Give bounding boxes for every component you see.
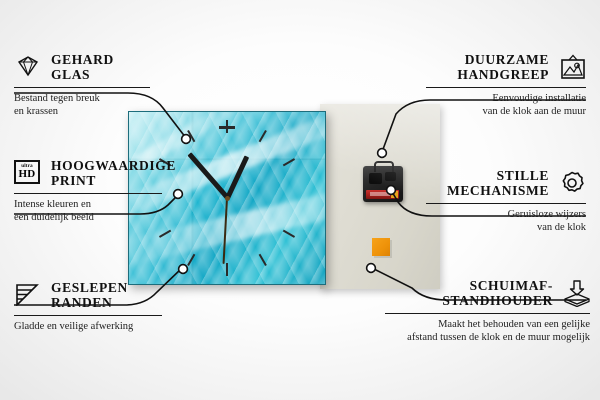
clock-hands-hub (225, 196, 230, 201)
feature-divider (14, 315, 162, 316)
feature-description: Eenvoudige installatie van de klok aan d… (386, 92, 586, 118)
gear-icon (558, 170, 586, 196)
feature-duurzame-handgreep: DUURZAME HANDGREEP Eenvoudige installati… (386, 52, 586, 118)
beveled-edge-icon (14, 282, 42, 308)
feature-header: GEHARD GLAS (14, 52, 204, 82)
foam-spacer (372, 238, 390, 256)
feature-title: STILLE MECHANISME (386, 168, 549, 198)
feature-header: GESLEPEN RANDEN (14, 280, 214, 310)
feature-divider (385, 313, 590, 314)
feature-header: ultra HD HOOGWAARDIGE PRINT (14, 158, 214, 188)
feature-divider (14, 87, 150, 88)
spacer-arrow-icon (562, 280, 590, 306)
feature-description: Bestand tegen breuk en krassen (14, 92, 204, 118)
feature-divider (14, 193, 162, 194)
infographic-stage: GEHARD GLAS Bestand tegen breuk en krass… (0, 0, 600, 400)
feature-hoogwaardige-print: ultra HD HOOGWAARDIGE PRINT Intense kleu… (14, 158, 214, 224)
feature-description: Intense kleuren en een duidelijk beeld (14, 198, 214, 224)
feature-description: Gladde en veilige afwerking (14, 320, 214, 333)
feature-description: Maakt het behouden van een gelijke afsta… (355, 318, 590, 344)
feature-header: DUURZAME HANDGREEP (386, 52, 586, 82)
feature-schuimaf-standhouder: SCHUIMAF- STANDHOUDER Maakt het behouden… (355, 278, 590, 344)
mechanism-shaft-housing (369, 173, 382, 184)
feature-title: DUURZAME HANDGREEP (386, 52, 549, 82)
feature-title: GESLEPEN RANDEN (51, 280, 128, 310)
picture-frame-hook-icon (558, 54, 586, 80)
ultra-hd-icon: ultra HD (14, 160, 42, 186)
feature-geslepen-randen: GESLEPEN RANDEN Gladde en veilige afwerk… (14, 280, 214, 333)
feature-title: GEHARD GLAS (51, 52, 114, 82)
feature-gehard-glas: GEHARD GLAS Bestand tegen breuk en krass… (14, 52, 204, 118)
feature-header: STILLE MECHANISME (386, 168, 586, 198)
feature-header: SCHUIMAF- STANDHOUDER (355, 278, 590, 308)
feature-title: SCHUIMAF- STANDHOUDER (355, 278, 553, 308)
feature-description: Geruisloze wijzers van de klok (386, 208, 586, 234)
feature-stille-mechanisme: STILLE MECHANISME Geruisloze wijzers van… (386, 168, 586, 234)
feature-title: HOOGWAARDIGE PRINT (51, 158, 176, 188)
feature-divider (426, 203, 586, 204)
feature-divider (426, 87, 586, 88)
ultra-hd-box: ultra HD (14, 160, 40, 184)
diamond-icon (14, 54, 42, 80)
